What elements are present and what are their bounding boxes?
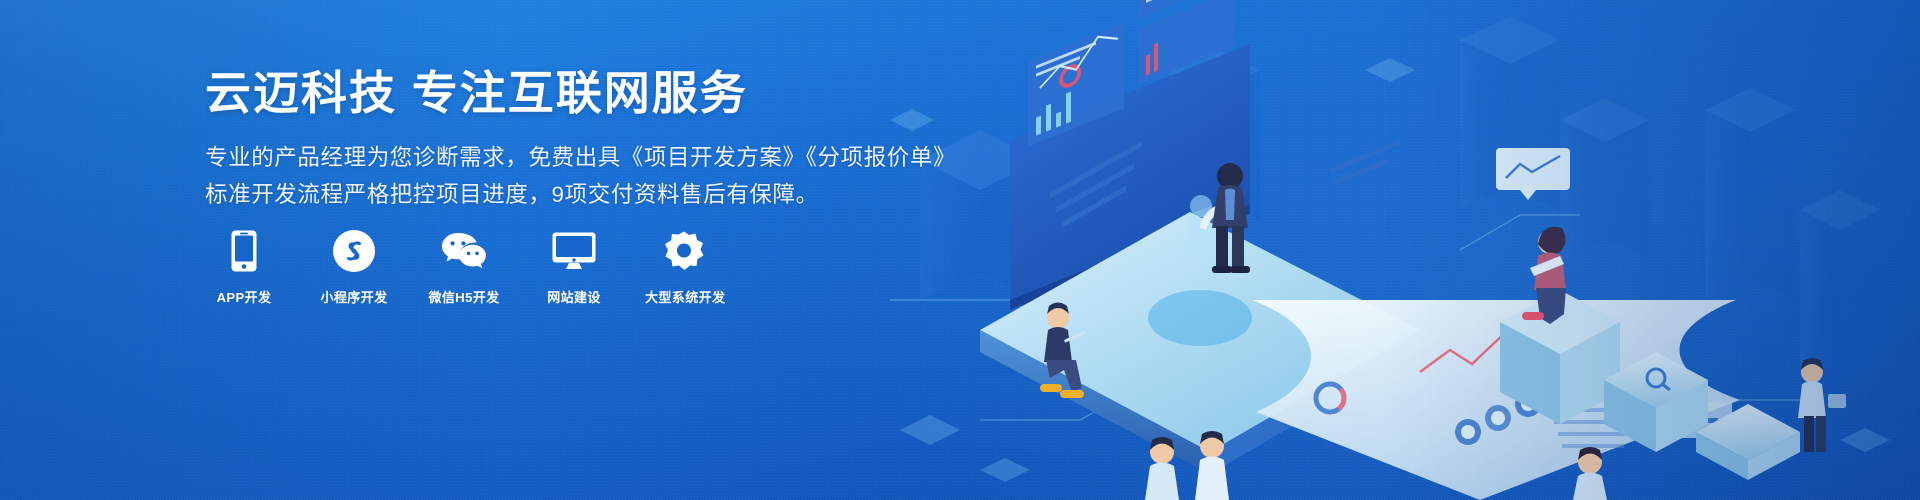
service-label: 网站建设 xyxy=(535,287,613,306)
service-list: APP开发 小程序开发 xyxy=(205,228,723,306)
mobile-phone-icon xyxy=(205,228,283,274)
subtitle: 专业的产品经理为您诊断需求，免费出具《项目开发方案》《分项报价单》 标准开发流程… xyxy=(205,140,905,213)
illustration xyxy=(860,0,1920,500)
subtitle-line-2: 标准开发流程严格把控项目进度，9项交付资料售后有保障。 xyxy=(205,177,905,213)
wechat-icon xyxy=(425,228,503,274)
person-walking-briefcase xyxy=(1798,358,1846,452)
page-title: 云迈科技 专注互联网服务 xyxy=(205,66,905,120)
service-item-large-system[interactable]: 大型系统开发 xyxy=(645,228,723,306)
service-item-app[interactable]: APP开发 xyxy=(205,228,283,306)
gear-icon xyxy=(645,228,723,274)
subtitle-line-1: 专业的产品经理为您诊断需求，免费出具《项目开发方案》《分项报价单》 xyxy=(205,140,905,176)
mini-program-icon xyxy=(315,228,393,274)
hero-banner: 云迈科技 专注互联网服务 专业的产品经理为您诊断需求，免费出具《项目开发方案》《… xyxy=(0,0,1920,500)
service-label: 小程序开发 xyxy=(315,287,393,306)
service-item-mini-program[interactable]: 小程序开发 xyxy=(315,228,393,306)
monitor-icon xyxy=(535,228,613,274)
service-label: 微信H5开发 xyxy=(425,287,503,306)
service-label: 大型系统开发 xyxy=(645,287,723,306)
service-label: APP开发 xyxy=(205,287,283,306)
service-item-website[interactable]: 网站建设 xyxy=(535,228,613,306)
copy-block: 云迈科技 专注互联网服务 专业的产品经理为您诊断需求，免费出具《项目开发方案》《… xyxy=(205,66,905,213)
service-item-wechat-h5[interactable]: 微信H5开发 xyxy=(425,228,503,306)
